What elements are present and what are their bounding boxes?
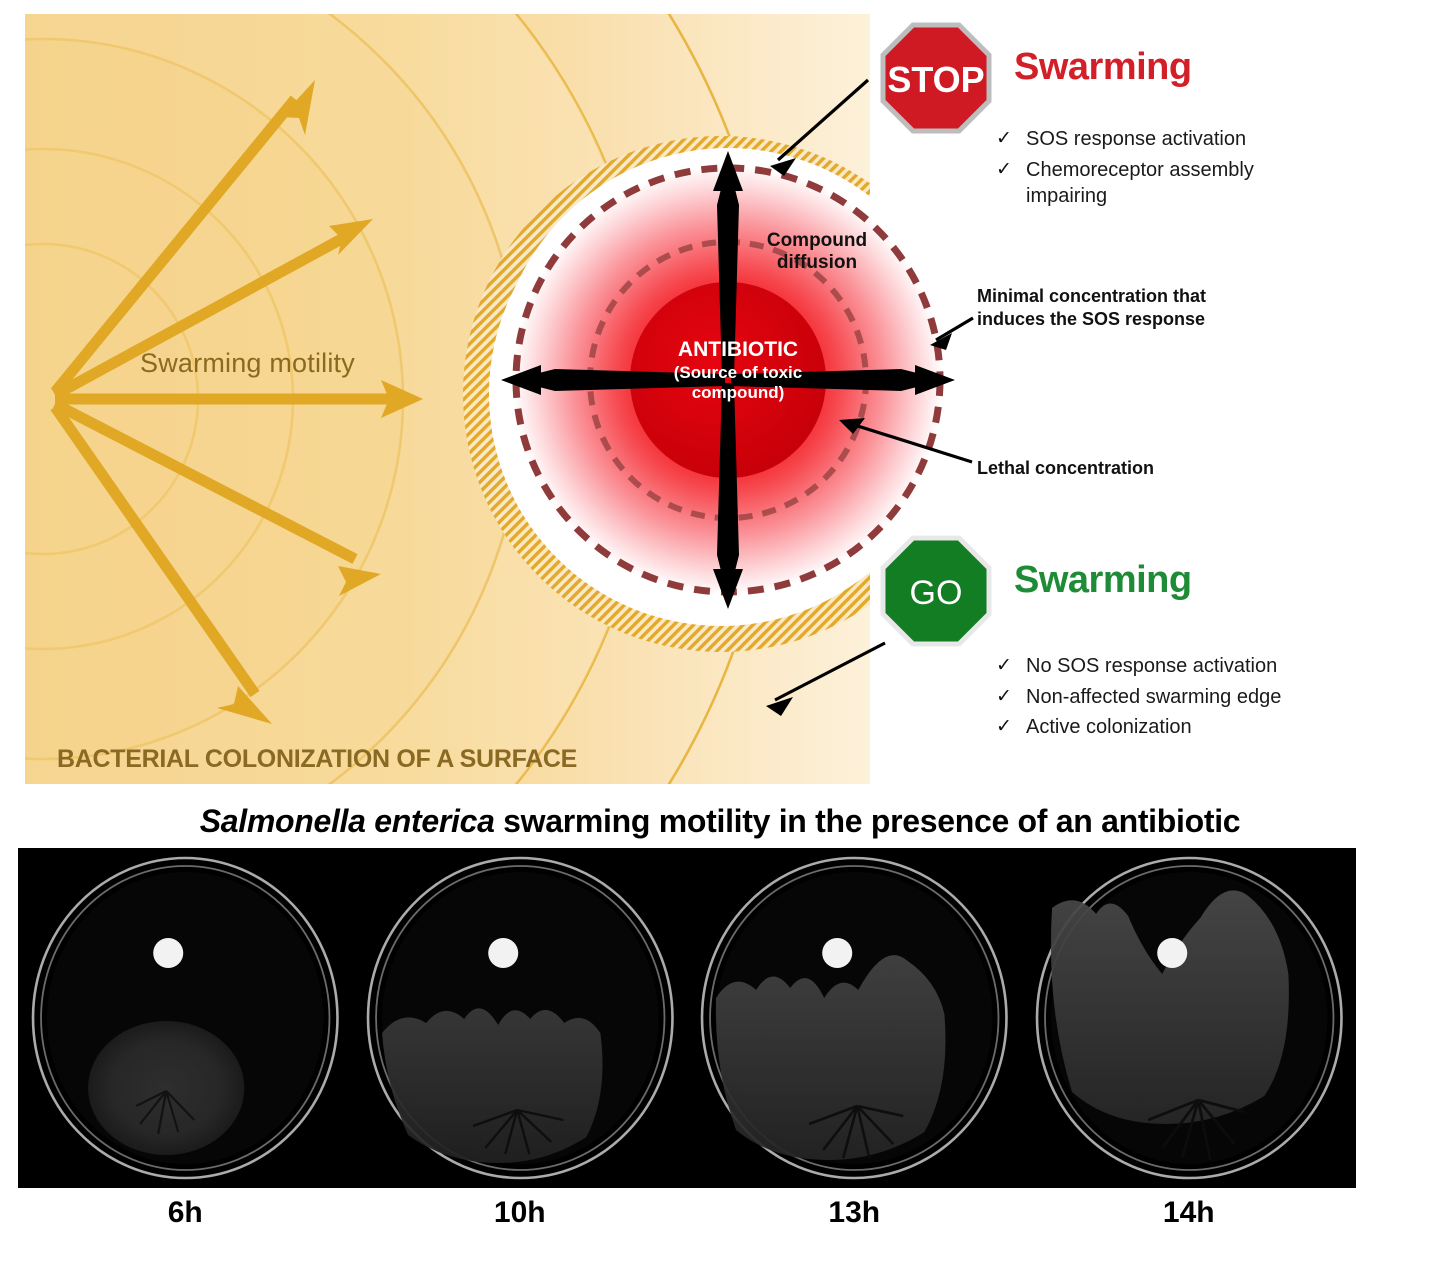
stop-sign-icon: STOP: [880, 22, 992, 134]
stop-bullet-item: ✓ Chemoreceptor assembly impairing: [996, 157, 1296, 210]
stop-bullet-text: SOS response activation: [1026, 126, 1246, 153]
petri-dish-6h: [18, 848, 353, 1188]
go-bullet-text: Active colonization: [1026, 714, 1192, 741]
caption-rest: swarming motility in the presence of an …: [495, 803, 1241, 839]
stop-sign-text: STOP: [887, 59, 984, 100]
timepoint-label: 14h: [1022, 1196, 1357, 1246]
go-bullet-list: ✓ No SOS response activation ✓ Non-affec…: [996, 653, 1281, 741]
go-swarming-block: GO Swarming ✓ No SOS response activation…: [880, 535, 1281, 745]
antibiotic-subtitle-text: (Source of toxic compound): [650, 363, 826, 404]
go-bullet-text: Non-affected swarming edge: [1026, 684, 1281, 711]
petri-dish-photo-section: Salmonella enterica swarming motility in…: [0, 793, 1440, 1273]
timepoint-label: 6h: [18, 1196, 353, 1246]
petri-dish-10h: [353, 848, 688, 1188]
petri-dish-strip: [18, 848, 1356, 1188]
antibiotic-title-text: ANTIBIOTIC: [678, 338, 798, 361]
check-icon: ✓: [996, 714, 1026, 739]
stop-bullet-text: Chemoreceptor assembly impairing: [1026, 157, 1296, 210]
timepoint-label: 13h: [687, 1196, 1022, 1246]
petri-dish-14h: [1022, 848, 1357, 1188]
stop-swarming-block: STOP Swarming ✓ SOS response activation …: [880, 22, 1296, 214]
stop-bullet-item: ✓ SOS response activation: [996, 126, 1296, 153]
go-bullet-item: ✓ Non-affected swarming edge: [996, 684, 1281, 711]
go-sign-icon: GO: [880, 535, 992, 647]
go-title: Swarming: [1014, 559, 1192, 602]
swarming-motility-label: Swarming motility: [140, 348, 355, 379]
compound-diffusion-text: Compound diffusion: [767, 230, 867, 273]
stop-bullet-list: ✓ SOS response activation ✓ Chemorecepto…: [996, 126, 1296, 210]
petri-dish-13h: [687, 848, 1022, 1188]
go-bullet-item: ✓ No SOS response activation: [996, 653, 1281, 680]
lethal-concentration-label: Lethal concentration: [977, 457, 1227, 480]
check-icon: ✓: [996, 684, 1026, 709]
check-icon: ✓: [996, 653, 1026, 678]
schematic-panel: Swarming motility BACTERIAL COLONIZATION…: [0, 0, 1440, 793]
species-name: Salmonella enterica: [200, 803, 495, 839]
photo-caption: Salmonella enterica swarming motility in…: [0, 803, 1440, 840]
timepoint-label: 10h: [353, 1196, 688, 1246]
check-icon: ✓: [996, 157, 1026, 182]
go-bullet-text: No SOS response activation: [1026, 653, 1277, 680]
stop-title: Swarming: [1014, 46, 1192, 89]
go-sign-text: GO: [910, 574, 963, 612]
compound-diffusion-label: Compound diffusion: [752, 230, 882, 274]
go-bullet-item: ✓ Active colonization: [996, 714, 1281, 741]
timepoint-label-row: 6h 10h 13h 14h: [18, 1196, 1356, 1246]
figure-root: Swarming motility BACTERIAL COLONIZATION…: [0, 0, 1440, 1273]
antibiotic-label: ANTIBIOTIC (Source of toxic compound): [650, 337, 826, 404]
check-icon: ✓: [996, 126, 1026, 151]
minimal-concentration-label: Minimal concentration that induces the S…: [977, 285, 1207, 331]
bacterial-colonization-label: BACTERIAL COLONIZATION OF A SURFACE: [57, 745, 577, 774]
